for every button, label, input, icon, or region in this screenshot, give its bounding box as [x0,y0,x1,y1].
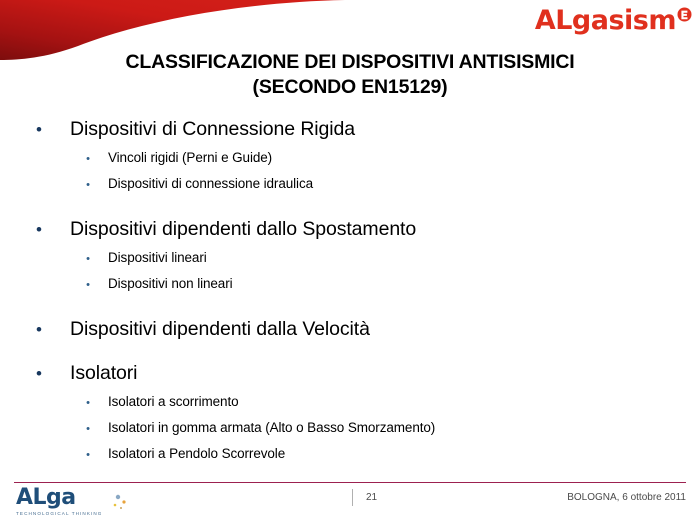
title-line-2: (SECONDO EN15129) [40,75,660,100]
bullet-level2-label: Dispositivi non lineari [108,272,233,295]
brand-logo: ALgasism [535,6,692,42]
bullet-level2-label: Isolatori a Pendolo Scorrevole [108,442,285,465]
bullet-marker-sub-icon: • [36,248,108,271]
bullet-marker-icon: • [36,361,70,387]
bullet-level2: • Isolatori in gomma armata (Alto o Bass… [36,416,676,441]
bullet-level2: • Vincoli rigidi (Perni e Guide) [36,146,676,171]
bullet-level1-label: Dispositivi dipendenti dalla Velocità [70,316,370,342]
bullet-group-4: • Isolatori • Isolatori a scorrimento • … [36,356,676,467]
bullet-level2: • Dispositivi di connessione idraulica [36,172,676,197]
bullet-level2-label: Isolatori in gomma armata (Alto o Basso … [108,416,435,439]
bullet-level2: • Isolatori a Pendolo Scorrevole [36,442,676,467]
footer-logo-dots-icon [104,491,134,513]
bullet-group-2: • Dispositivi dipendenti dallo Spostamen… [36,212,676,297]
bullet-level1-label: Dispositivi dipendenti dallo Spostamento [70,216,416,242]
bullet-marker-icon: • [36,317,70,343]
bullet-marker-sub-icon: • [36,148,108,171]
group-spacer [36,346,676,356]
bullet-level2-label: Isolatori a scorrimento [108,390,239,413]
bullet-marker-sub-icon: • [36,174,108,197]
group-spacer [36,298,676,312]
footer-logo: ALga TECHNOLOGICAL THINKING [16,486,146,522]
brand-wordmark: ALgasism [535,6,676,36]
bullet-group-3: • Dispositivi dipendenti dalla Velocità [36,312,676,343]
presentation-slide: ALgasism CLASSIFICAZIONE DEI DISPOSITIVI… [0,0,700,525]
bullet-marker-icon: • [36,217,70,243]
bullet-level1-label: Dispositivi di Connessione Rigida [70,116,355,142]
page-title: CLASSIFICAZIONE DEI DISPOSITIVI ANTISISM… [40,50,660,100]
bullet-level2: • Isolatori a scorrimento [36,390,676,415]
bullet-level1-label: Isolatori [70,360,137,386]
slide-body: • Dispositivi di Connessione Rigida • Vi… [36,112,676,468]
bullet-level2-label: Dispositivi lineari [108,246,207,269]
bullet-group-1: • Dispositivi di Connessione Rigida • Vi… [36,112,676,197]
bullet-marker-sub-icon: • [36,274,108,297]
bullet-level1: • Dispositivi dipendenti dalla Velocità [36,312,676,343]
bullet-marker-icon: • [36,117,70,143]
footer-tick-divider [352,489,353,506]
bullet-level2-label: Vincoli rigidi (Perni e Guide) [108,146,272,169]
bullet-marker-sub-icon: • [36,392,108,415]
page-number: 21 [366,492,377,503]
title-line-1: CLASSIFICAZIONE DEI DISPOSITIVI ANTISISM… [40,50,660,75]
bullet-level1: • Isolatori [36,356,676,387]
bullet-level1: • Dispositivi dipendenti dallo Spostamen… [36,212,676,243]
registered-badge-icon [677,7,692,22]
group-spacer [36,198,676,212]
bullet-marker-sub-icon: • [36,444,108,467]
bullet-level2-label: Dispositivi di connessione idraulica [108,172,313,195]
bullet-level2: • Dispositivi non lineari [36,272,676,297]
bullet-marker-sub-icon: • [36,418,108,441]
bullet-level1: • Dispositivi di Connessione Rigida [36,112,676,143]
bullet-level2: • Dispositivi lineari [36,246,676,271]
footer-place-date: BOLOGNA, 6 ottobre 2011 [567,492,686,503]
footer-divider [14,482,686,483]
